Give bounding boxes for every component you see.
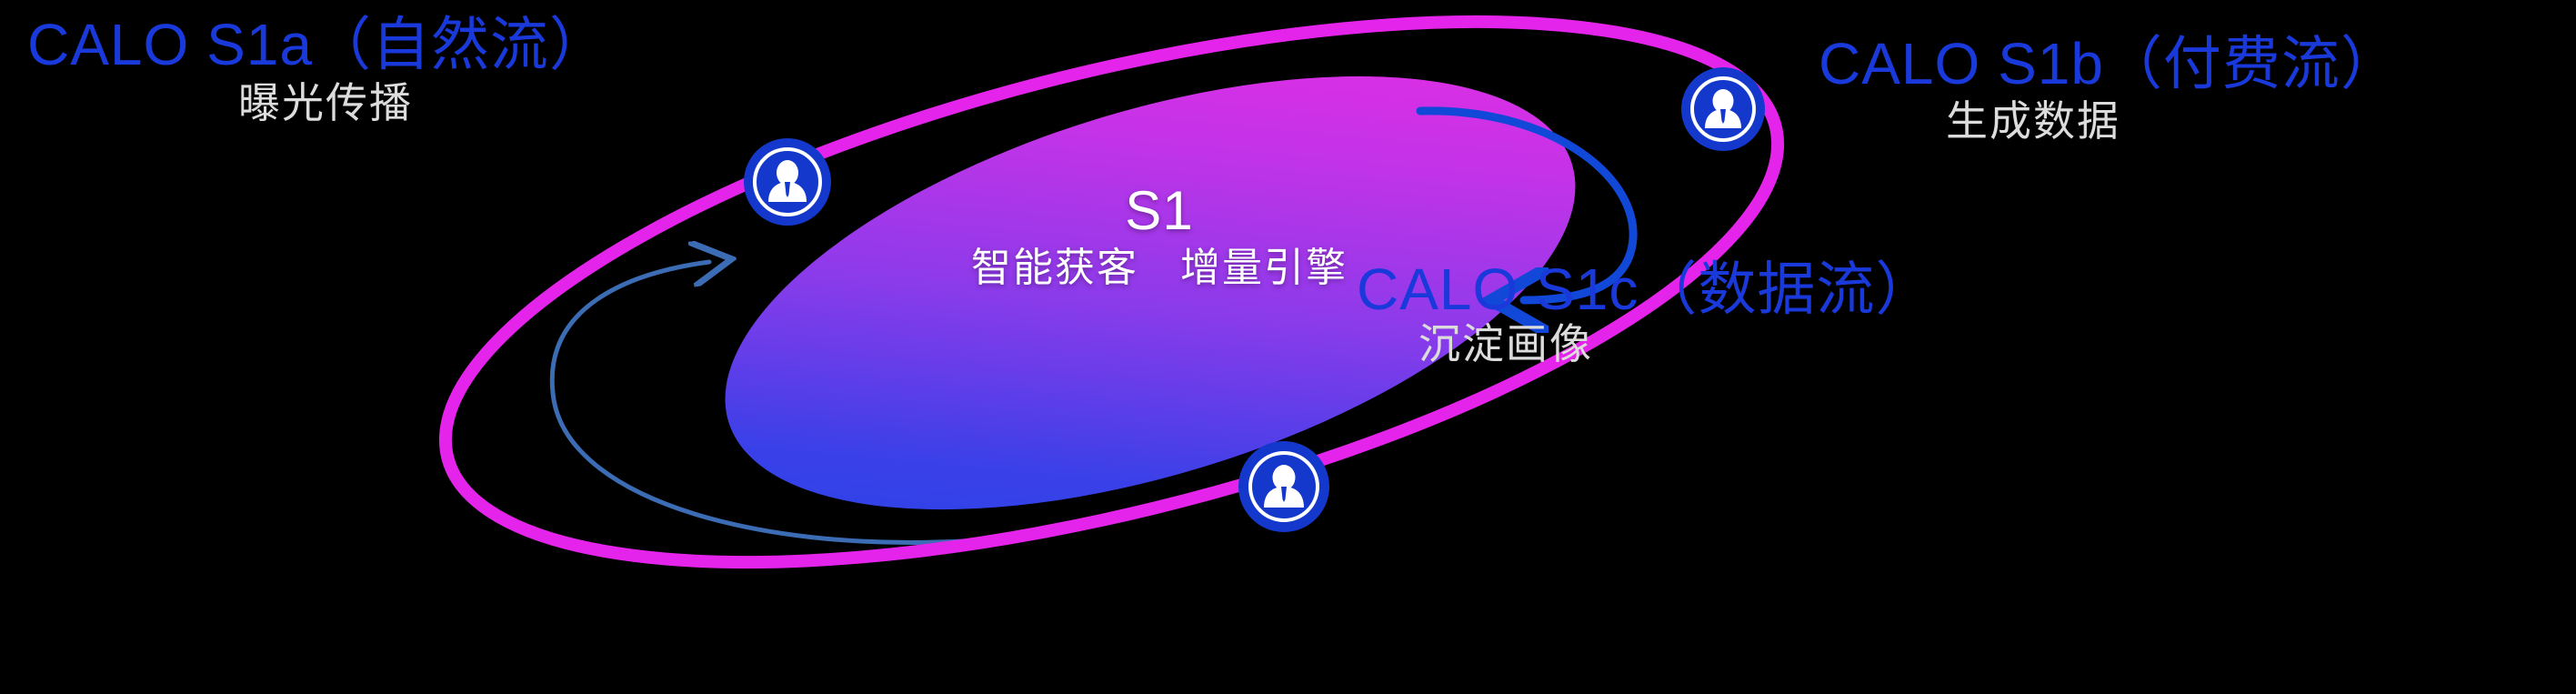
diagram-canvas: S1 智能获客 增量引擎 CALO S1a（自然流） 曝光传播 CALO S1b… [0, 0, 2576, 694]
node-s1b[interactable] [1681, 67, 1765, 151]
label-s1c-title: CALO S1c（数据流） [1357, 260, 1934, 318]
node-s1a[interactable] [744, 138, 831, 226]
label-s1b-subtitle: 生成数据 [1946, 100, 2120, 142]
label-s1a-subtitle: 曝光传播 [238, 82, 413, 124]
label-s1c-subtitle: 沉淀画像 [1418, 323, 1593, 365]
node-s1c[interactable] [1238, 441, 1329, 532]
label-s1b-title: CALO S1b（付费流） [1819, 35, 2400, 93]
label-s1a-title: CALO S1a（自然流） [27, 15, 608, 74]
